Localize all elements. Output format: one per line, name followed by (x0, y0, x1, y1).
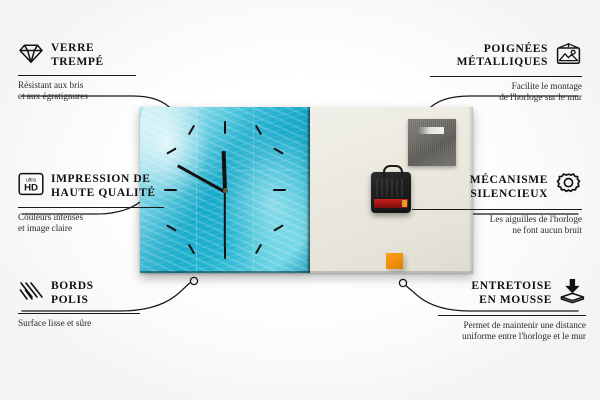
hanger-slot (418, 127, 444, 134)
gear-icon (555, 172, 582, 203)
callout-impression-hd: ultra HD IMPRESSION DE HAUTE QUALITÉ Cou… (18, 172, 208, 234)
callout-divider (18, 313, 140, 314)
callout-title-line1: MÉCANISME (470, 174, 548, 186)
metal-hanger-plate (408, 119, 456, 166)
diamond-icon (18, 43, 44, 69)
hour-marker (273, 224, 284, 231)
callout-sub-line2: ne font aucun bruit (512, 225, 582, 235)
callout-title-line2: POLIS (51, 294, 89, 306)
ultra-hd-icon: ultra HD (18, 172, 44, 201)
foam-spacer (386, 253, 403, 269)
callout-verre-trempe: VERRE TREMPÉ Résistant aux bris et aux é… (18, 42, 196, 102)
callout-title-line1: IMPRESSION DE (51, 173, 151, 185)
infographic-canvas: VERRE TREMPÉ Résistant aux bris et aux é… (0, 0, 600, 400)
ultra-hd-large-label: HD (24, 183, 38, 194)
callout-sub-line1: Surface lisse et sûre (18, 318, 91, 328)
callout-title-line1: ENTRETOISE (471, 280, 552, 292)
wall-mount-frame-icon (555, 42, 582, 70)
foam-spacer-arrow-icon (559, 278, 586, 309)
callout-title-line1: BORDS (51, 280, 94, 292)
callout-title-line2: MÉTALLIQUES (457, 56, 548, 68)
callout-title-line1: POIGNÉES (484, 43, 548, 55)
callout-title-line2: SILENCIEUX (470, 188, 548, 200)
callout-poignees-metalliques: POIGNÉES MÉTALLIQUES Facilite le montage… (400, 42, 582, 103)
hour-marker (273, 189, 286, 191)
callout-entretoise-en-mousse: ENTRETOISE EN MOUSSE Permet de maintenir… (438, 278, 586, 342)
callout-divider (430, 76, 582, 77)
callout-sub-line1: Résistant aux bris (18, 80, 83, 90)
callout-sub-line1: Permet de maintenir une distance (464, 320, 586, 330)
callout-divider (412, 209, 582, 210)
polished-edges-icon (18, 280, 44, 307)
callout-sub-line2: uniforme entre l'horloge et le mur (462, 331, 586, 341)
callout-title-line1: VERRE (51, 42, 94, 54)
callout-mecanisme-silencieux: MÉCANISME SILENCIEUX Les aiguilles de l'… (398, 172, 582, 236)
hour-marker (255, 125, 262, 136)
hour-marker (255, 244, 262, 255)
second-hand (224, 191, 226, 248)
callout-sub-line1: Couleurs intenses (18, 212, 83, 222)
callout-divider (18, 207, 164, 208)
clock-hub (223, 188, 228, 193)
hour-marker (224, 246, 226, 259)
hour-marker (273, 147, 284, 154)
callout-sub-line2: et aux égratignures (18, 91, 88, 101)
callout-sub-line1: Les aiguilles de l'horloge (490, 214, 582, 224)
callout-title-line2: EN MOUSSE (479, 294, 552, 306)
callout-sub-line2: et image claire (18, 223, 72, 233)
callout-divider (18, 75, 136, 76)
callout-bords-polis: BORDS POLIS Surface lisse et sûre (18, 280, 198, 329)
callout-title-line2: HAUTE QUALITÉ (51, 187, 156, 199)
hour-marker (224, 121, 226, 134)
callout-title-line2: TREMPÉ (51, 56, 104, 68)
callout-sub-line1: Facilite le montage (512, 81, 582, 91)
callout-sub-line2: de l'horloge sur le mur (499, 92, 582, 102)
callout-divider (438, 315, 586, 316)
connector-endpoint (399, 279, 406, 286)
